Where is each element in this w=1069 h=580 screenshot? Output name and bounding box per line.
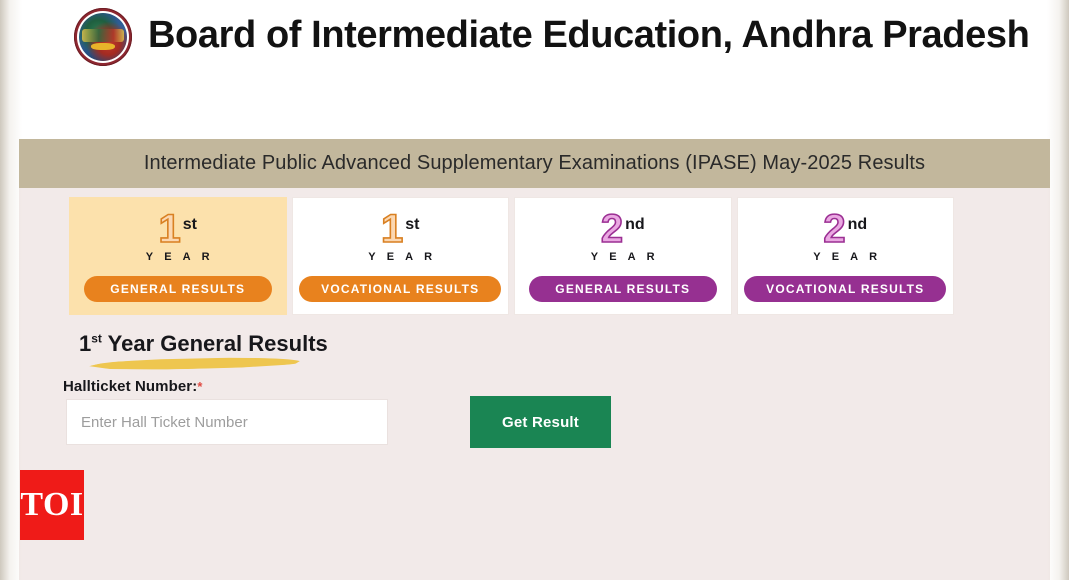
result-card-1st-year-vocational[interactable]: 1 st Y E A R VOCATIONAL RESULTS [292, 197, 510, 315]
card-4-year-label: Y E A R [813, 251, 881, 263]
hallticket-label-text: Hallticket Number: [63, 378, 197, 395]
result-card-2nd-year-general[interactable]: 2 nd Y E A R GENERAL RESULTS [514, 197, 732, 315]
page-title: Board of Intermediate Education, Andhra … [148, 4, 1029, 66]
card-2-big-number: 1 [381, 212, 402, 246]
exam-banner-text: Intermediate Public Advanced Supplementa… [144, 152, 925, 175]
card-3-ordinal: nd [625, 217, 645, 233]
card-4-results-button[interactable]: VOCATIONAL RESULTS [744, 276, 946, 302]
card-1-big-number: 1 [159, 212, 180, 246]
hallticket-label: Hallticket Number:* [63, 378, 203, 395]
toi-watermark-text: TOI [20, 488, 83, 522]
page-root: Board of Intermediate Education, Andhra … [0, 0, 1069, 580]
card-1-ordinal: st [183, 217, 197, 233]
card-3-year-label: Y E A R [591, 251, 659, 263]
toi-watermark-logo: TOI [20, 470, 84, 540]
card-2-ordinal: st [405, 217, 419, 233]
hallticket-input[interactable] [66, 399, 388, 445]
section-heading-number: 1 [79, 331, 91, 356]
result-card-1st-year-general[interactable]: 1 st Y E A R GENERAL RESULTS [69, 197, 287, 315]
logo-emblem-art [79, 13, 127, 61]
card-4-year-number: 2 nd [823, 212, 867, 246]
exam-banner: Intermediate Public Advanced Supplementa… [19, 139, 1050, 188]
board-logo-icon [74, 8, 132, 66]
card-4-big-number: 2 [823, 212, 844, 246]
card-3-big-number: 2 [601, 212, 622, 246]
card-3-year-number: 2 nd [601, 212, 645, 246]
content-area: 1 st Y E A R GENERAL RESULTS 1 st Y E A … [19, 188, 1050, 580]
card-4-ordinal: nd [848, 217, 868, 233]
card-1-year-number: 1 st [159, 212, 197, 246]
card-1-results-button[interactable]: GENERAL RESULTS [84, 276, 272, 302]
card-1-year-label: Y E A R [146, 251, 214, 263]
section-heading-text: 1st Year General Results [79, 330, 328, 358]
section-heading: 1st Year General Results [79, 330, 328, 358]
result-card-2nd-year-vocational[interactable]: 2 nd Y E A R VOCATIONAL RESULTS [737, 197, 955, 315]
site-header: Board of Intermediate Education, Andhra … [0, 0, 1069, 139]
section-heading-rest: Year General Results [102, 331, 328, 356]
section-heading-ordinal: st [91, 332, 102, 346]
required-asterisk: * [197, 379, 202, 394]
card-2-year-label: Y E A R [368, 251, 436, 263]
card-2-results-button[interactable]: VOCATIONAL RESULTS [299, 276, 501, 302]
card-3-results-button[interactable]: GENERAL RESULTS [529, 276, 717, 302]
get-result-button[interactable]: Get Result [470, 396, 611, 448]
result-card-row: 1 st Y E A R GENERAL RESULTS 1 st Y E A … [69, 197, 954, 315]
heading-underline-brush [89, 356, 301, 371]
card-2-year-number: 1 st [381, 212, 419, 246]
